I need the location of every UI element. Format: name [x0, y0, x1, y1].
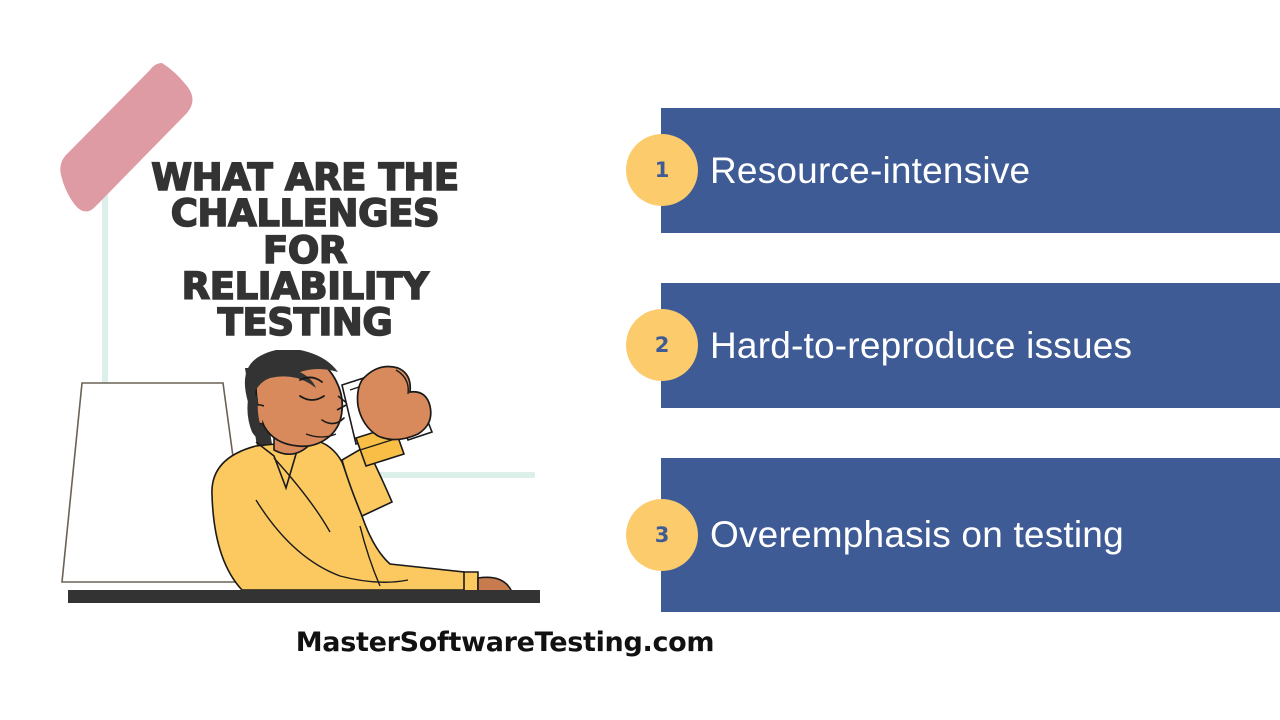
- list-item[interactable]: Hard-to-reproduce issues: [661, 283, 1280, 408]
- list-item-number: 2: [655, 335, 670, 356]
- list-item[interactable]: Resource-intensive: [661, 108, 1280, 233]
- list-item-number-badge: 3: [626, 499, 698, 571]
- brand-footer: MasterSoftwareTesting.com: [0, 627, 1010, 658]
- list-item-label: Overemphasis on testing: [710, 514, 1124, 556]
- list-item-label: Resource-intensive: [710, 150, 1030, 192]
- list-item-number: 1: [655, 160, 670, 181]
- list-item-number-badge: 2: [626, 309, 698, 381]
- list-item[interactable]: Overemphasis on testing: [661, 458, 1280, 612]
- list-item-number-badge: 1: [626, 134, 698, 206]
- list-item-label: Hard-to-reproduce issues: [710, 325, 1132, 367]
- challenges-list: Resource-intensive 1 Hard-to-reproduce i…: [0, 0, 1280, 720]
- list-item-number: 3: [655, 525, 670, 546]
- poster-canvas: WHAT ARE THE CHALLENGES FOR RELIABILITY …: [0, 0, 1280, 720]
